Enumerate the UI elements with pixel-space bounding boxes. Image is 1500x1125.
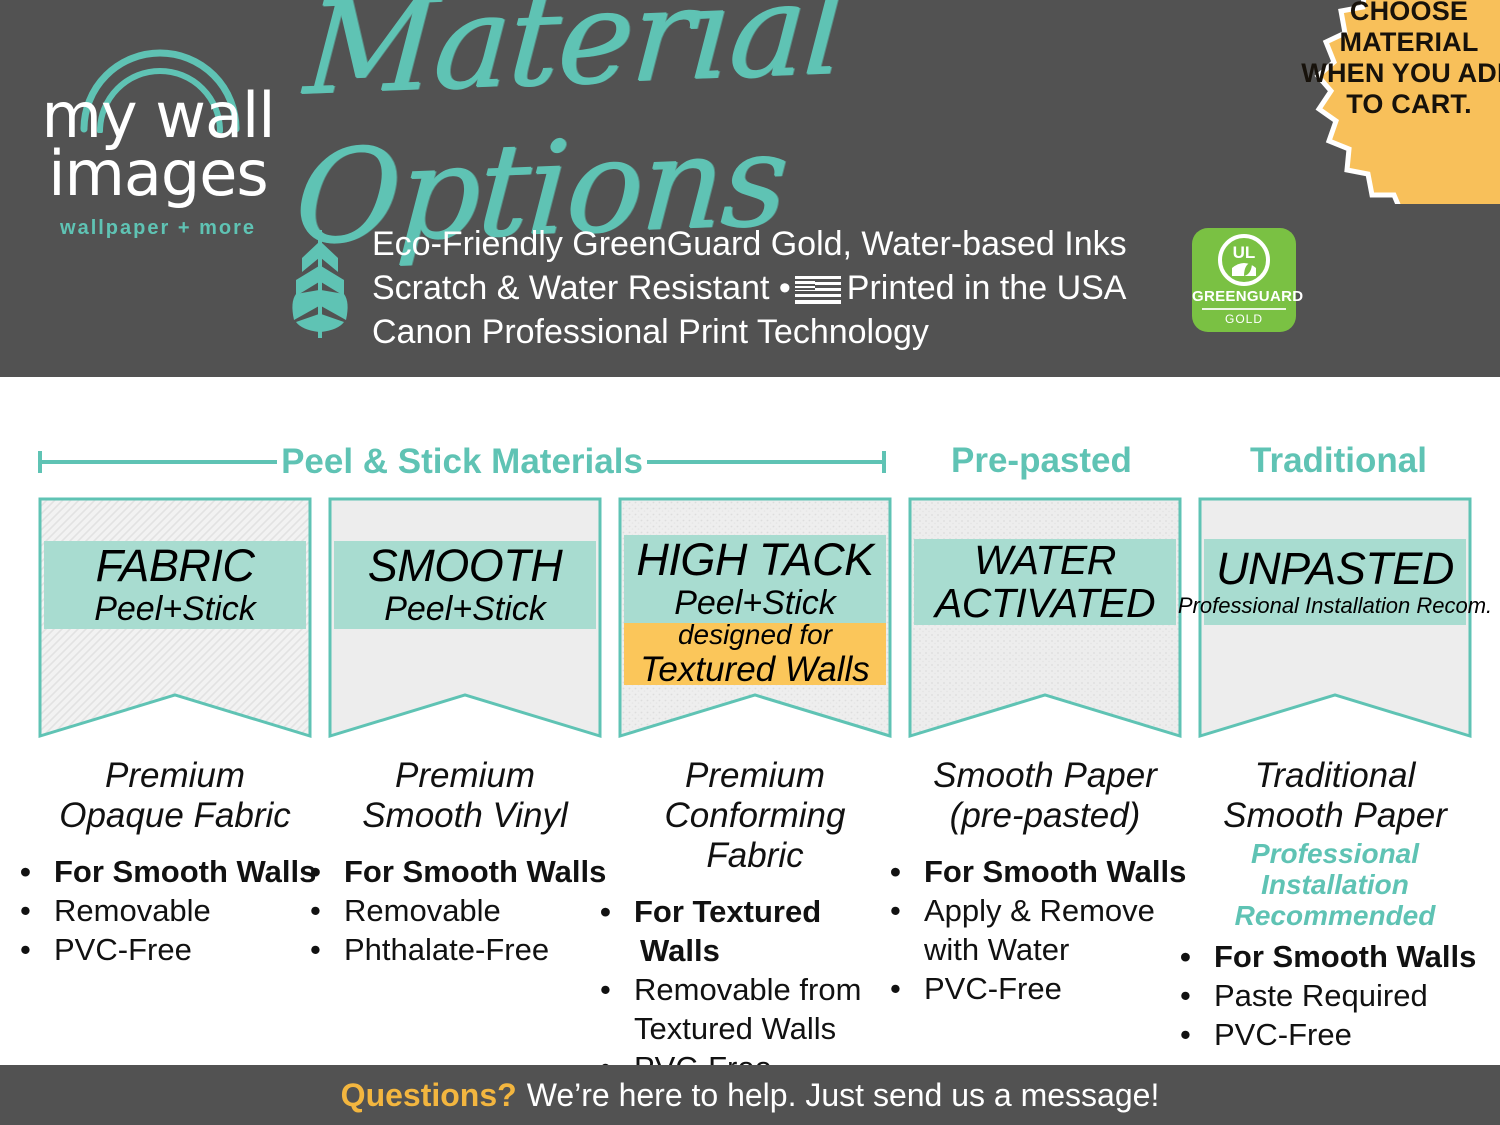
caption-line-1: Premium (320, 756, 610, 796)
bullet-dot-icon: • (910, 891, 924, 930)
greenguard-level: GOLD (1192, 312, 1296, 326)
list-item: •Removable (330, 891, 610, 930)
bullet-dot-icon: • (620, 892, 634, 931)
material-caption: Premium Opaque Fabric (30, 756, 320, 836)
material-caption: Traditional Smooth Paper (1190, 756, 1480, 836)
bracket-right-rule (647, 460, 882, 464)
ribbon-title: SMOOTH (368, 542, 563, 590)
greenguard-name: GREENGUARD (1192, 288, 1296, 305)
bullet-dot-icon: • (330, 930, 344, 969)
ul-mark-icon: UL (1218, 234, 1270, 286)
svg-text:UL: UL (1233, 243, 1256, 262)
material-caption: Premium Smooth Vinyl (320, 756, 610, 836)
list-item: •Removable (40, 891, 320, 930)
bullet-dot-icon: • (40, 891, 54, 930)
bullet-text: Textured Walls (634, 1011, 836, 1046)
note-line-2: Recommended (1190, 900, 1480, 931)
footer-bar: Questions? We’re here to help. Just send… (0, 1065, 1500, 1125)
group-heading-pre-pasted: Pre-pasted (951, 441, 1132, 481)
group-heading-peel-stick: Peel & Stick Materials (38, 442, 886, 482)
ribbon-subtitle: Professional Installation Recom. (1178, 593, 1492, 619)
material-bullets: •For Smooth Walls •Apply & Remove with W… (900, 852, 1190, 1008)
ribbon-band: FABRIC Peel+Stick (44, 541, 306, 629)
material-column-smooth: SMOOTH Peel+Stick Premium Smooth Vinyl •… (320, 495, 610, 985)
bullet-text: Paste Required (1214, 978, 1428, 1013)
caption-line-1: Traditional (1190, 756, 1480, 796)
caption-line-1: Smooth Paper (900, 756, 1190, 796)
list-item: •For Smooth Walls (1200, 937, 1480, 976)
material-bullets: •For Smooth Walls •Paste Required •PVC-F… (1190, 937, 1480, 1054)
bullet-dot-icon: • (1200, 1015, 1214, 1054)
caption-line-2: Conforming (610, 796, 900, 836)
ribbon-subtitle: Peel+Stick (674, 584, 836, 622)
bullet-text: PVC-Free (924, 971, 1062, 1006)
caption-line-2: (pre-pasted) (900, 796, 1190, 836)
material-column-high-tack: HIGH TACK Peel+Stick designed for Textur… (610, 495, 900, 1103)
caption-line-1: Premium (30, 756, 320, 796)
ribbon-title: UNPASTED (1216, 545, 1454, 593)
logo-wordmark: my wall images (28, 87, 288, 202)
list-item: •For Textured Walls (620, 892, 900, 970)
material-bullets: •For Textured Walls •Removable from Text… (610, 892, 900, 1087)
leaf-icon (288, 228, 360, 340)
bullet-dot-icon: • (330, 891, 344, 930)
caption-line-2: Opaque Fabric (30, 796, 320, 836)
footer-message[interactable]: We’re here to help. Just send us a messa… (527, 1077, 1160, 1114)
list-item: •Paste Required (1200, 976, 1480, 1015)
greenguard-badge: UL GREENGUARD GOLD (1192, 228, 1296, 332)
bullet-dot-icon: • (1200, 937, 1214, 976)
list-item: •For Smooth Walls (40, 852, 320, 891)
bullet-spacer (620, 1009, 634, 1048)
group-label-peel-stick: Peel & Stick Materials (277, 442, 647, 482)
footer-questions-label: Questions? (341, 1077, 517, 1114)
ribbon-band: HIGH TACK Peel+Stick (624, 535, 886, 623)
caption-line-2: Smooth Vinyl (320, 796, 610, 836)
bullet-text: For Smooth Walls (344, 854, 606, 889)
list-item-continuation: Textured Walls (620, 1009, 900, 1048)
material-bullets: •For Smooth Walls •Removable •Phthalate-… (320, 852, 610, 969)
bullet-text: Phthalate-Free (344, 932, 549, 967)
usa-flag-icon (795, 276, 841, 304)
list-item: •For Smooth Walls (910, 852, 1190, 891)
feature-line-2a: Scratch & Water Resistant • (372, 269, 791, 307)
choose-material-badge: CHOOSE MATERIAL WHEN YOU ADD TO CART. (1282, 0, 1500, 204)
ribbon-highlight-line-2: Textured Walls (640, 651, 870, 689)
bullet-text: Removable from (634, 972, 861, 1007)
bullet-dot-icon: • (40, 852, 54, 891)
list-item: •Removable from (620, 970, 900, 1009)
caption-line-3: Fabric (610, 836, 900, 876)
bracket-right-cap (882, 451, 886, 473)
material-caption: Smooth Paper (pre-pasted) (900, 756, 1190, 836)
bullet-dot-icon: • (910, 852, 924, 891)
material-bullets: •For Smooth Walls •Removable •PVC-Free (30, 852, 320, 969)
ribbon-title: FABRIC (96, 542, 255, 590)
feature-line-1: Eco-Friendly GreenGuard Gold, Water-base… (372, 222, 1182, 266)
bullet-text: PVC-Free (1214, 1017, 1352, 1052)
ribbon-title: HIGH TACK (636, 536, 873, 584)
note-line-1: Professional Installation (1190, 838, 1480, 900)
bullet-text: PVC-Free (54, 932, 192, 967)
materials-section: Peel & Stick Materials Pre-pasted Tradit… (0, 377, 1500, 1065)
logo-line-1: my wall (28, 87, 288, 145)
bullet-spacer (910, 930, 924, 969)
caption-line-2: Smooth Paper (1190, 796, 1480, 836)
material-column-unpasted: UNPASTED Professional Installation Recom… (1190, 495, 1480, 1070)
bullet-dot-icon: • (1200, 976, 1214, 1015)
list-item: •PVC-Free (1200, 1015, 1480, 1054)
group-heading-traditional: Traditional (1250, 441, 1427, 481)
feature-list: Eco-Friendly GreenGuard Gold, Water-base… (372, 222, 1182, 354)
ribbon-band-highlight: designed for Textured Walls (624, 623, 886, 685)
bullet-text: For Textured Walls (634, 894, 821, 968)
ribbon-band: SMOOTH Peel+Stick (334, 541, 596, 629)
bullet-dot-icon: • (330, 852, 344, 891)
bullet-dot-icon: • (910, 969, 924, 1008)
material-caption: Premium Conforming Fabric (610, 756, 900, 876)
feature-line-3: Canon Professional Print Technology (372, 310, 1182, 354)
ribbon-title: WATER (974, 539, 1116, 582)
ribbon-title-line-2: ACTIVATED (935, 582, 1155, 625)
header-banner: my wall images wallpaper + more Material… (0, 0, 1500, 377)
bullet-text: Apply & Remove (924, 893, 1155, 928)
list-item: •Phthalate-Free (330, 930, 610, 969)
bullet-text: For Smooth Walls (924, 854, 1186, 889)
ribbon-subtitle: Peel+Stick (384, 590, 546, 628)
list-item-continuation: with Water (910, 930, 1190, 969)
logo-tagline: wallpaper + more (28, 217, 288, 240)
material-ribbon: UNPASTED Professional Installation Recom… (1196, 495, 1474, 740)
greenguard-divider (1202, 308, 1286, 310)
list-item: •PVC-Free (910, 969, 1190, 1008)
list-item: •Apply & Remove (910, 891, 1190, 930)
material-column-fabric: FABRIC Peel+Stick Premium Opaque Fabric … (30, 495, 320, 985)
feature-line-2: Scratch & Water Resistant •Printed in th… (372, 266, 1182, 310)
bullet-text: with Water (924, 932, 1069, 967)
choose-material-text: CHOOSE MATERIAL WHEN YOU ADD TO CART. (1296, 0, 1500, 120)
bullet-text: For Smooth Walls (54, 854, 316, 889)
bullet-text: Removable (344, 893, 501, 928)
caption-line-1: Premium (610, 756, 900, 796)
list-item: •For Smooth Walls (330, 852, 610, 891)
page-title: Material Options (300, 5, 1290, 205)
ribbon-highlight-line-1: designed for (678, 619, 832, 651)
bullet-dot-icon: • (40, 930, 54, 969)
bullet-dot-icon: • (620, 970, 634, 1009)
brand-logo: my wall images wallpaper + more (28, 35, 288, 250)
material-ribbon: WATER ACTIVATED (906, 495, 1184, 740)
feature-line-2b: Printed in the USA (847, 269, 1127, 307)
material-ribbon: FABRIC Peel+Stick (36, 495, 314, 740)
bullet-text: For Smooth Walls (1214, 939, 1476, 974)
material-ribbon: HIGH TACK Peel+Stick designed for Textur… (616, 495, 894, 740)
bracket-left-rule (42, 460, 277, 464)
page-title-text: Material Options (294, 0, 1297, 224)
logo-line-2: images (28, 145, 288, 203)
material-ribbon: SMOOTH Peel+Stick (326, 495, 604, 740)
list-item: •PVC-Free (40, 930, 320, 969)
bullet-text: Removable (54, 893, 211, 928)
material-column-water-activated: WATER ACTIVATED Smooth Paper (pre-pasted… (900, 495, 1190, 1024)
material-caption-note: Professional Installation Recommended (1190, 838, 1480, 931)
ribbon-subtitle: Peel+Stick (94, 590, 256, 628)
ribbon-band: WATER ACTIVATED (914, 539, 1176, 625)
ribbon-band: UNPASTED Professional Installation Recom… (1204, 539, 1466, 625)
